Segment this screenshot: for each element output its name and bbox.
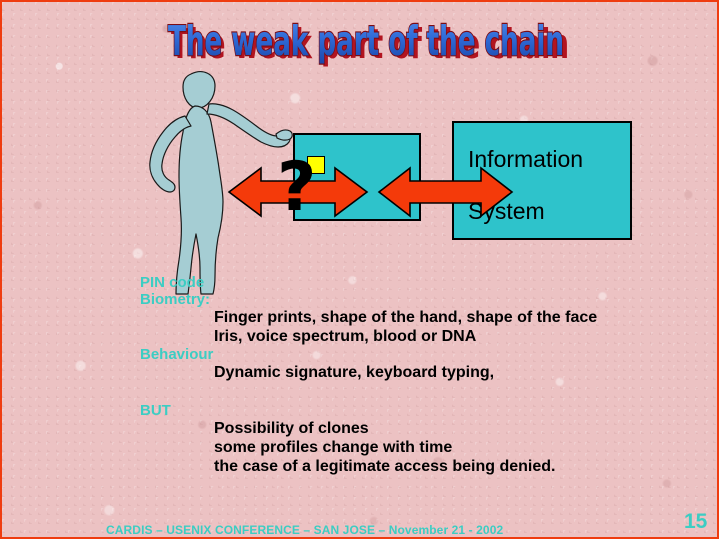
question-mark-glyph: ? bbox=[277, 154, 316, 222]
presentation-slide: The weak part of the chain The weak part… bbox=[0, 0, 719, 539]
page-number: 15 bbox=[684, 510, 707, 534]
footer-conference-line: CARDIS – USENIX CONFERENCE – SAN JOSE – … bbox=[106, 523, 503, 537]
body-text-block: PIN codeBiometry:Finger prints, shape of… bbox=[140, 274, 680, 476]
body-heading-line: BUT bbox=[140, 402, 680, 419]
title-fill-layer: The weak part of the chain bbox=[168, 17, 564, 65]
body-detail-line: Iris, voice spectrum, blood or DNA bbox=[214, 327, 680, 346]
slide-title: The weak part of the chain The weak part… bbox=[166, 19, 566, 65]
body-detail-line: Finger prints, shape of the hand, shape … bbox=[214, 308, 680, 327]
body-detail-line: Possibility of clones bbox=[214, 419, 680, 438]
body-detail-line: the case of a legitimate access being de… bbox=[214, 457, 680, 476]
double-arrow-card-to-system bbox=[377, 162, 514, 222]
body-heading-line: Behaviour bbox=[140, 346, 680, 363]
body-text-spacer bbox=[140, 382, 680, 402]
body-detail-line: some profiles change with time bbox=[214, 438, 680, 457]
body-heading-line: Biometry: bbox=[140, 291, 680, 308]
body-detail-line: Dynamic signature, keyboard typing, bbox=[214, 363, 680, 382]
body-heading-line: PIN code bbox=[140, 274, 680, 291]
